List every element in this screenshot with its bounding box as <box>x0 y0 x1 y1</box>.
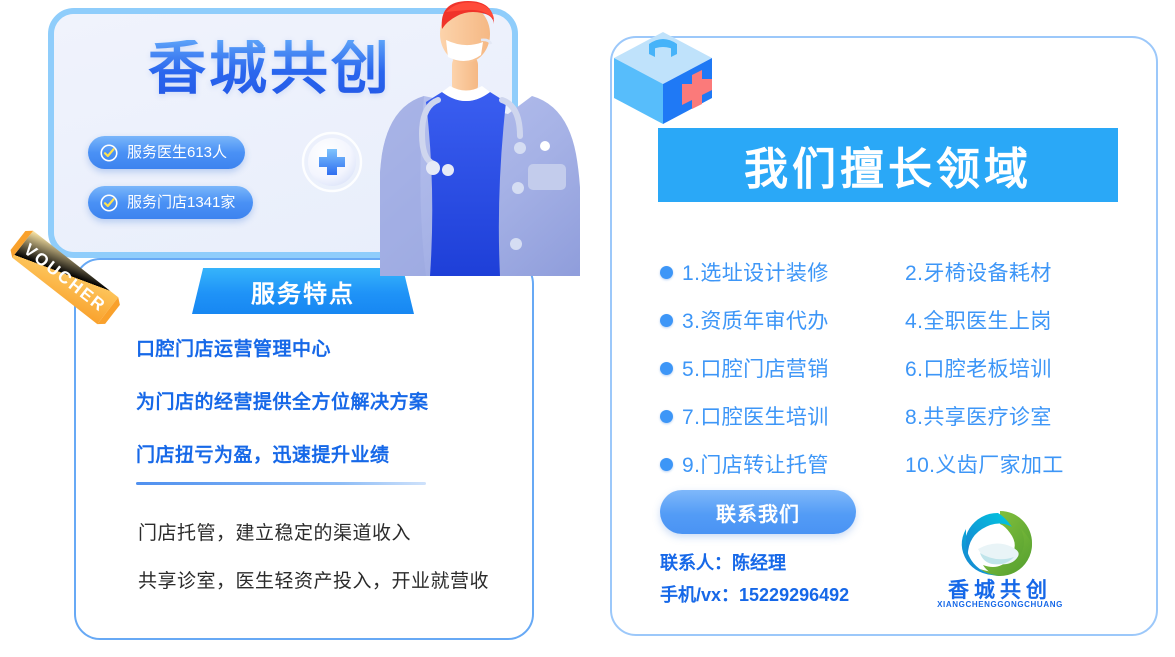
feature-highlight-2: 为门店的经营提供全方位解决方案 <box>136 387 532 414</box>
list-item: 3.资质年审代办 4.全职医生上岗 <box>660 296 1130 344</box>
doctor-illustration <box>380 0 580 276</box>
bullet-dot-icon <box>660 458 673 471</box>
service-features-highlights: 口腔门店运营管理中心 为门店的经营提供全方位解决方案 门店扭亏为盈，迅速提升业绩 <box>76 334 532 493</box>
expertise-item-8: 8.共享医疗诊室 <box>905 401 1052 431</box>
logo-pinyin: XIANGCHENGGONGCHUANG <box>937 600 1063 609</box>
bullet-dot-icon <box>660 266 673 279</box>
badge-stores: 服务门店1341家 <box>88 186 253 219</box>
poster-canvas: 香城共创 服务医生613人 服务门店1341家 <box>0 0 1175 657</box>
bullet-dot-icon <box>660 410 673 423</box>
medical-kit-icon <box>604 22 722 134</box>
expertise-item-9: 9.门店转让托管 <box>660 449 905 479</box>
feature-detail-1: 门店托管，建立稳定的渠道收入 <box>138 518 411 545</box>
expertise-list: 1.选址设计装修 2.牙椅设备耗材 3.资质年审代办 4.全职医生上岗 5.口腔… <box>660 248 1130 488</box>
left-column: 香城共创 服务医生613人 服务门店1341家 <box>0 0 575 657</box>
service-features-card: 服务特点 口腔门店运营管理中心 为门店的经营提供全方位解决方案 门店扭亏为盈，迅… <box>74 258 534 640</box>
logo-swirl-icon: 香城共创 XIANGCHENGGONGCHUANG <box>920 505 1080 609</box>
list-item: 7.口腔医生培训 8.共享医疗诊室 <box>660 392 1130 440</box>
divider <box>136 482 426 485</box>
feature-detail-2: 共享诊室，医生轻资产投入，开业就营收 <box>138 566 489 593</box>
expertise-item-9-label: 9.门店转让托管 <box>682 449 829 479</box>
badge-doctors: 服务医生613人 <box>88 136 245 169</box>
contact-us-button[interactable]: 联系我们 <box>660 490 856 534</box>
bullet-dot-icon <box>660 362 673 375</box>
expertise-item-2: 2.牙椅设备耗材 <box>905 257 1052 287</box>
expertise-item-5-label: 5.口腔门店营销 <box>682 353 829 383</box>
expertise-item-6: 6.口腔老板培训 <box>905 353 1052 383</box>
expertise-item-1-label: 1.选址设计装修 <box>682 257 829 287</box>
voucher-label: VOUCHER <box>20 240 110 316</box>
medical-plus-icon <box>296 126 368 198</box>
list-item: 1.选址设计装修 2.牙椅设备耗材 <box>660 248 1130 296</box>
page-title: 香城共创 <box>148 40 392 98</box>
contact-phone: 手机/vx：15229296492 <box>660 581 849 607</box>
expertise-item-5: 5.口腔门店营销 <box>660 353 905 383</box>
voucher-ribbon: VOUCHER <box>2 224 127 334</box>
bullet-dot-icon <box>660 314 673 327</box>
expertise-item-3-label: 3.资质年审代办 <box>682 305 829 335</box>
feature-highlight-3: 门店扭亏为盈，迅速提升业绩 <box>136 440 532 467</box>
check-circle-icon <box>99 143 119 163</box>
expertise-item-4-label: 4.全职医生上岗 <box>905 310 1052 333</box>
expertise-banner: 我们擅长领域 <box>658 128 1118 202</box>
brand-logo: 香城共创 XIANGCHENGGONGCHUANG <box>920 505 1080 609</box>
badge-doctors-label: 服务医生613人 <box>127 145 227 160</box>
check-circle-icon <box>99 193 119 213</box>
list-item: 5.口腔门店营销 6.口腔老板培训 <box>660 344 1130 392</box>
expertise-item-10-label: 10.义齿厂家加工 <box>905 454 1064 477</box>
expertise-item-3: 3.资质年审代办 <box>660 305 905 335</box>
contact-person: 联系人：陈经理 <box>660 549 786 575</box>
expertise-item-6-label: 6.口腔老板培训 <box>905 358 1052 381</box>
feature-highlight-1: 口腔门店运营管理中心 <box>136 334 532 361</box>
expertise-item-7-label: 7.口腔医生培训 <box>682 401 829 431</box>
expertise-item-1: 1.选址设计装修 <box>660 257 905 287</box>
expertise-item-8-label: 8.共享医疗诊室 <box>905 406 1052 429</box>
expertise-item-7: 7.口腔医生培训 <box>660 401 905 431</box>
expertise-item-4: 4.全职医生上岗 <box>905 305 1052 335</box>
logo-cn-name: 香城共创 <box>948 578 1052 602</box>
list-item: 9.门店转让托管 10.义齿厂家加工 <box>660 440 1130 488</box>
expertise-item-2-label: 2.牙椅设备耗材 <box>905 262 1052 285</box>
badge-stores-label: 服务门店1341家 <box>127 195 235 210</box>
expertise-item-10: 10.义齿厂家加工 <box>905 449 1064 479</box>
